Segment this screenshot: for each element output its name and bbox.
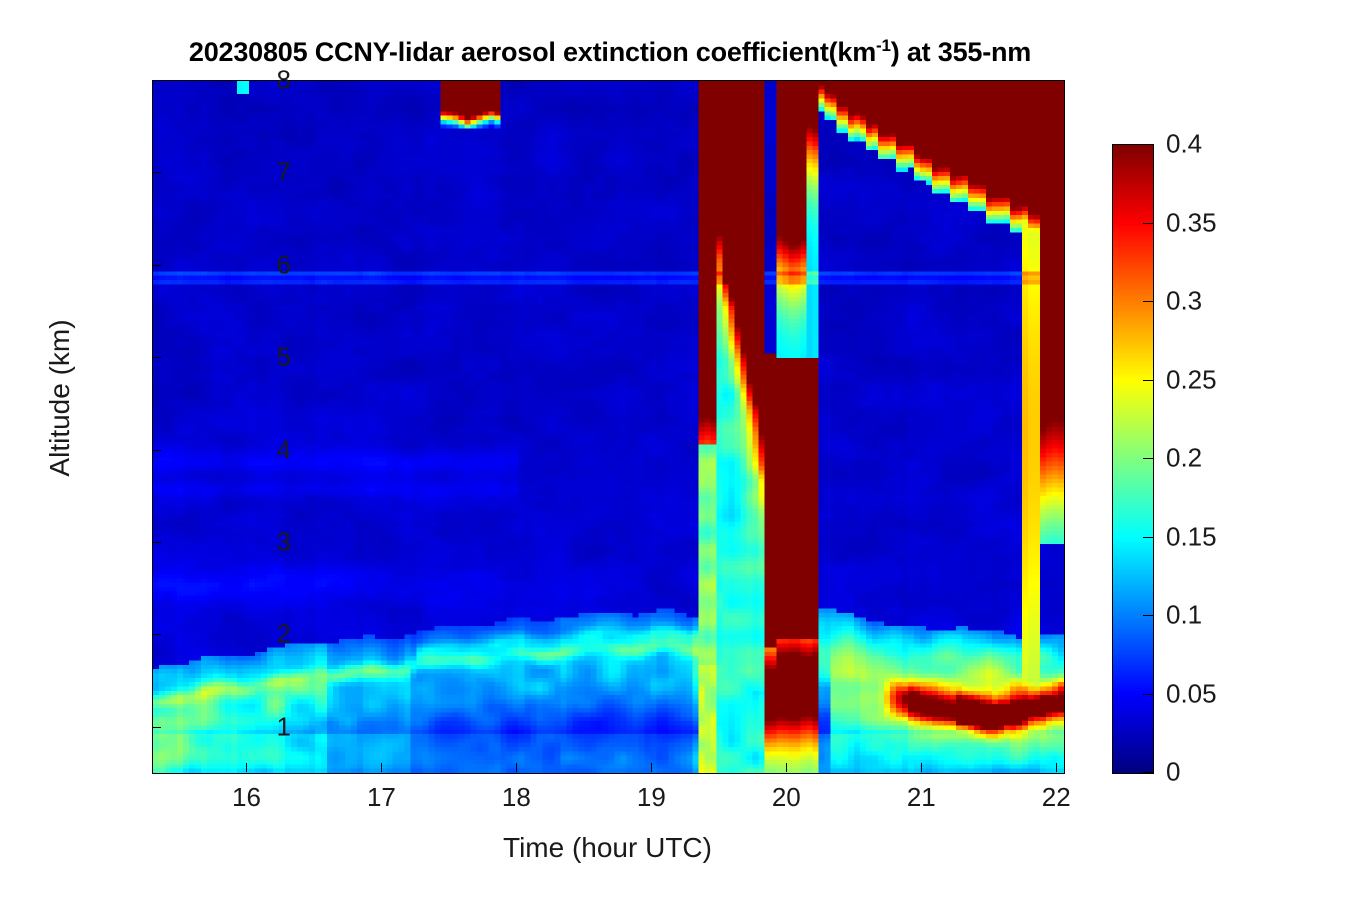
- colorbar-tick-mark: [1143, 380, 1153, 381]
- colorbar-tick-mark: [1143, 144, 1153, 145]
- colorbar-canvas: [1113, 145, 1153, 773]
- title-main: 20230805 CCNY-lidar aerosol extinction c…: [189, 37, 876, 67]
- x-tick-mark: [921, 763, 922, 772]
- x-tick-mark: [246, 763, 247, 772]
- y-tick-mark: [152, 634, 161, 635]
- colorbar-tick-label: 0.3: [1166, 286, 1202, 317]
- y-tick-mark: [152, 542, 161, 543]
- colorbar: [1112, 144, 1154, 774]
- colorbar-tick-label: 0.15: [1166, 521, 1217, 552]
- x-tick-label: 19: [621, 782, 681, 813]
- colorbar-tick-label: 0.4: [1166, 129, 1202, 160]
- x-tick-mark: [381, 763, 382, 772]
- x-tick-label: 22: [1026, 782, 1086, 813]
- title-superscript: -1: [876, 36, 891, 55]
- colorbar-tick-mark: [1143, 301, 1153, 302]
- colorbar-tick-mark: [1143, 772, 1153, 773]
- title-tail: ) at 355-nm: [891, 37, 1031, 67]
- x-tick-mark: [786, 763, 787, 772]
- y-axis-title: Altitude (km): [44, 268, 76, 528]
- x-tick-label: 20: [756, 782, 816, 813]
- y-tick-label: 5: [231, 342, 291, 373]
- colorbar-tick-label: 0: [1166, 757, 1180, 788]
- y-tick-label: 3: [231, 526, 291, 557]
- colorbar-tick-label: 0.2: [1166, 443, 1202, 474]
- x-axis-title: Time (hour UTC): [152, 832, 1063, 864]
- y-tick-label: 8: [231, 65, 291, 96]
- colorbar-tick-mark: [1143, 458, 1153, 459]
- y-tick-label: 1: [231, 711, 291, 742]
- colorbar-tick-label: 0.05: [1166, 678, 1217, 709]
- y-tick-mark: [152, 727, 161, 728]
- colorbar-tick-label: 0.1: [1166, 600, 1202, 631]
- colorbar-tick-mark: [1143, 694, 1153, 695]
- y-tick-label: 4: [231, 434, 291, 465]
- colorbar-tick-mark: [1143, 537, 1153, 538]
- colorbar-tick-mark: [1143, 615, 1153, 616]
- y-tick-mark: [152, 450, 161, 451]
- y-tick-mark: [152, 172, 161, 173]
- x-tick-label: 21: [891, 782, 951, 813]
- colorbar-tick-label: 0.35: [1166, 207, 1217, 238]
- x-tick-label: 17: [351, 782, 411, 813]
- y-tick-mark: [152, 265, 161, 266]
- lidar-heatmap-figure: 20230805 CCNY-lidar aerosol extinction c…: [0, 0, 1350, 900]
- colorbar-tick-label: 0.25: [1166, 364, 1217, 395]
- x-tick-mark: [1056, 763, 1057, 772]
- y-tick-mark: [152, 357, 161, 358]
- colorbar-tick-mark: [1143, 223, 1153, 224]
- x-tick-label: 18: [486, 782, 546, 813]
- page-title: 20230805 CCNY-lidar aerosol extinction c…: [0, 36, 1220, 68]
- y-tick-label: 2: [231, 619, 291, 650]
- x-tick-label: 16: [216, 782, 276, 813]
- y-tick-label: 6: [231, 249, 291, 280]
- x-tick-mark: [516, 763, 517, 772]
- y-tick-label: 7: [231, 157, 291, 188]
- x-tick-mark: [651, 763, 652, 772]
- y-tick-mark: [152, 80, 161, 81]
